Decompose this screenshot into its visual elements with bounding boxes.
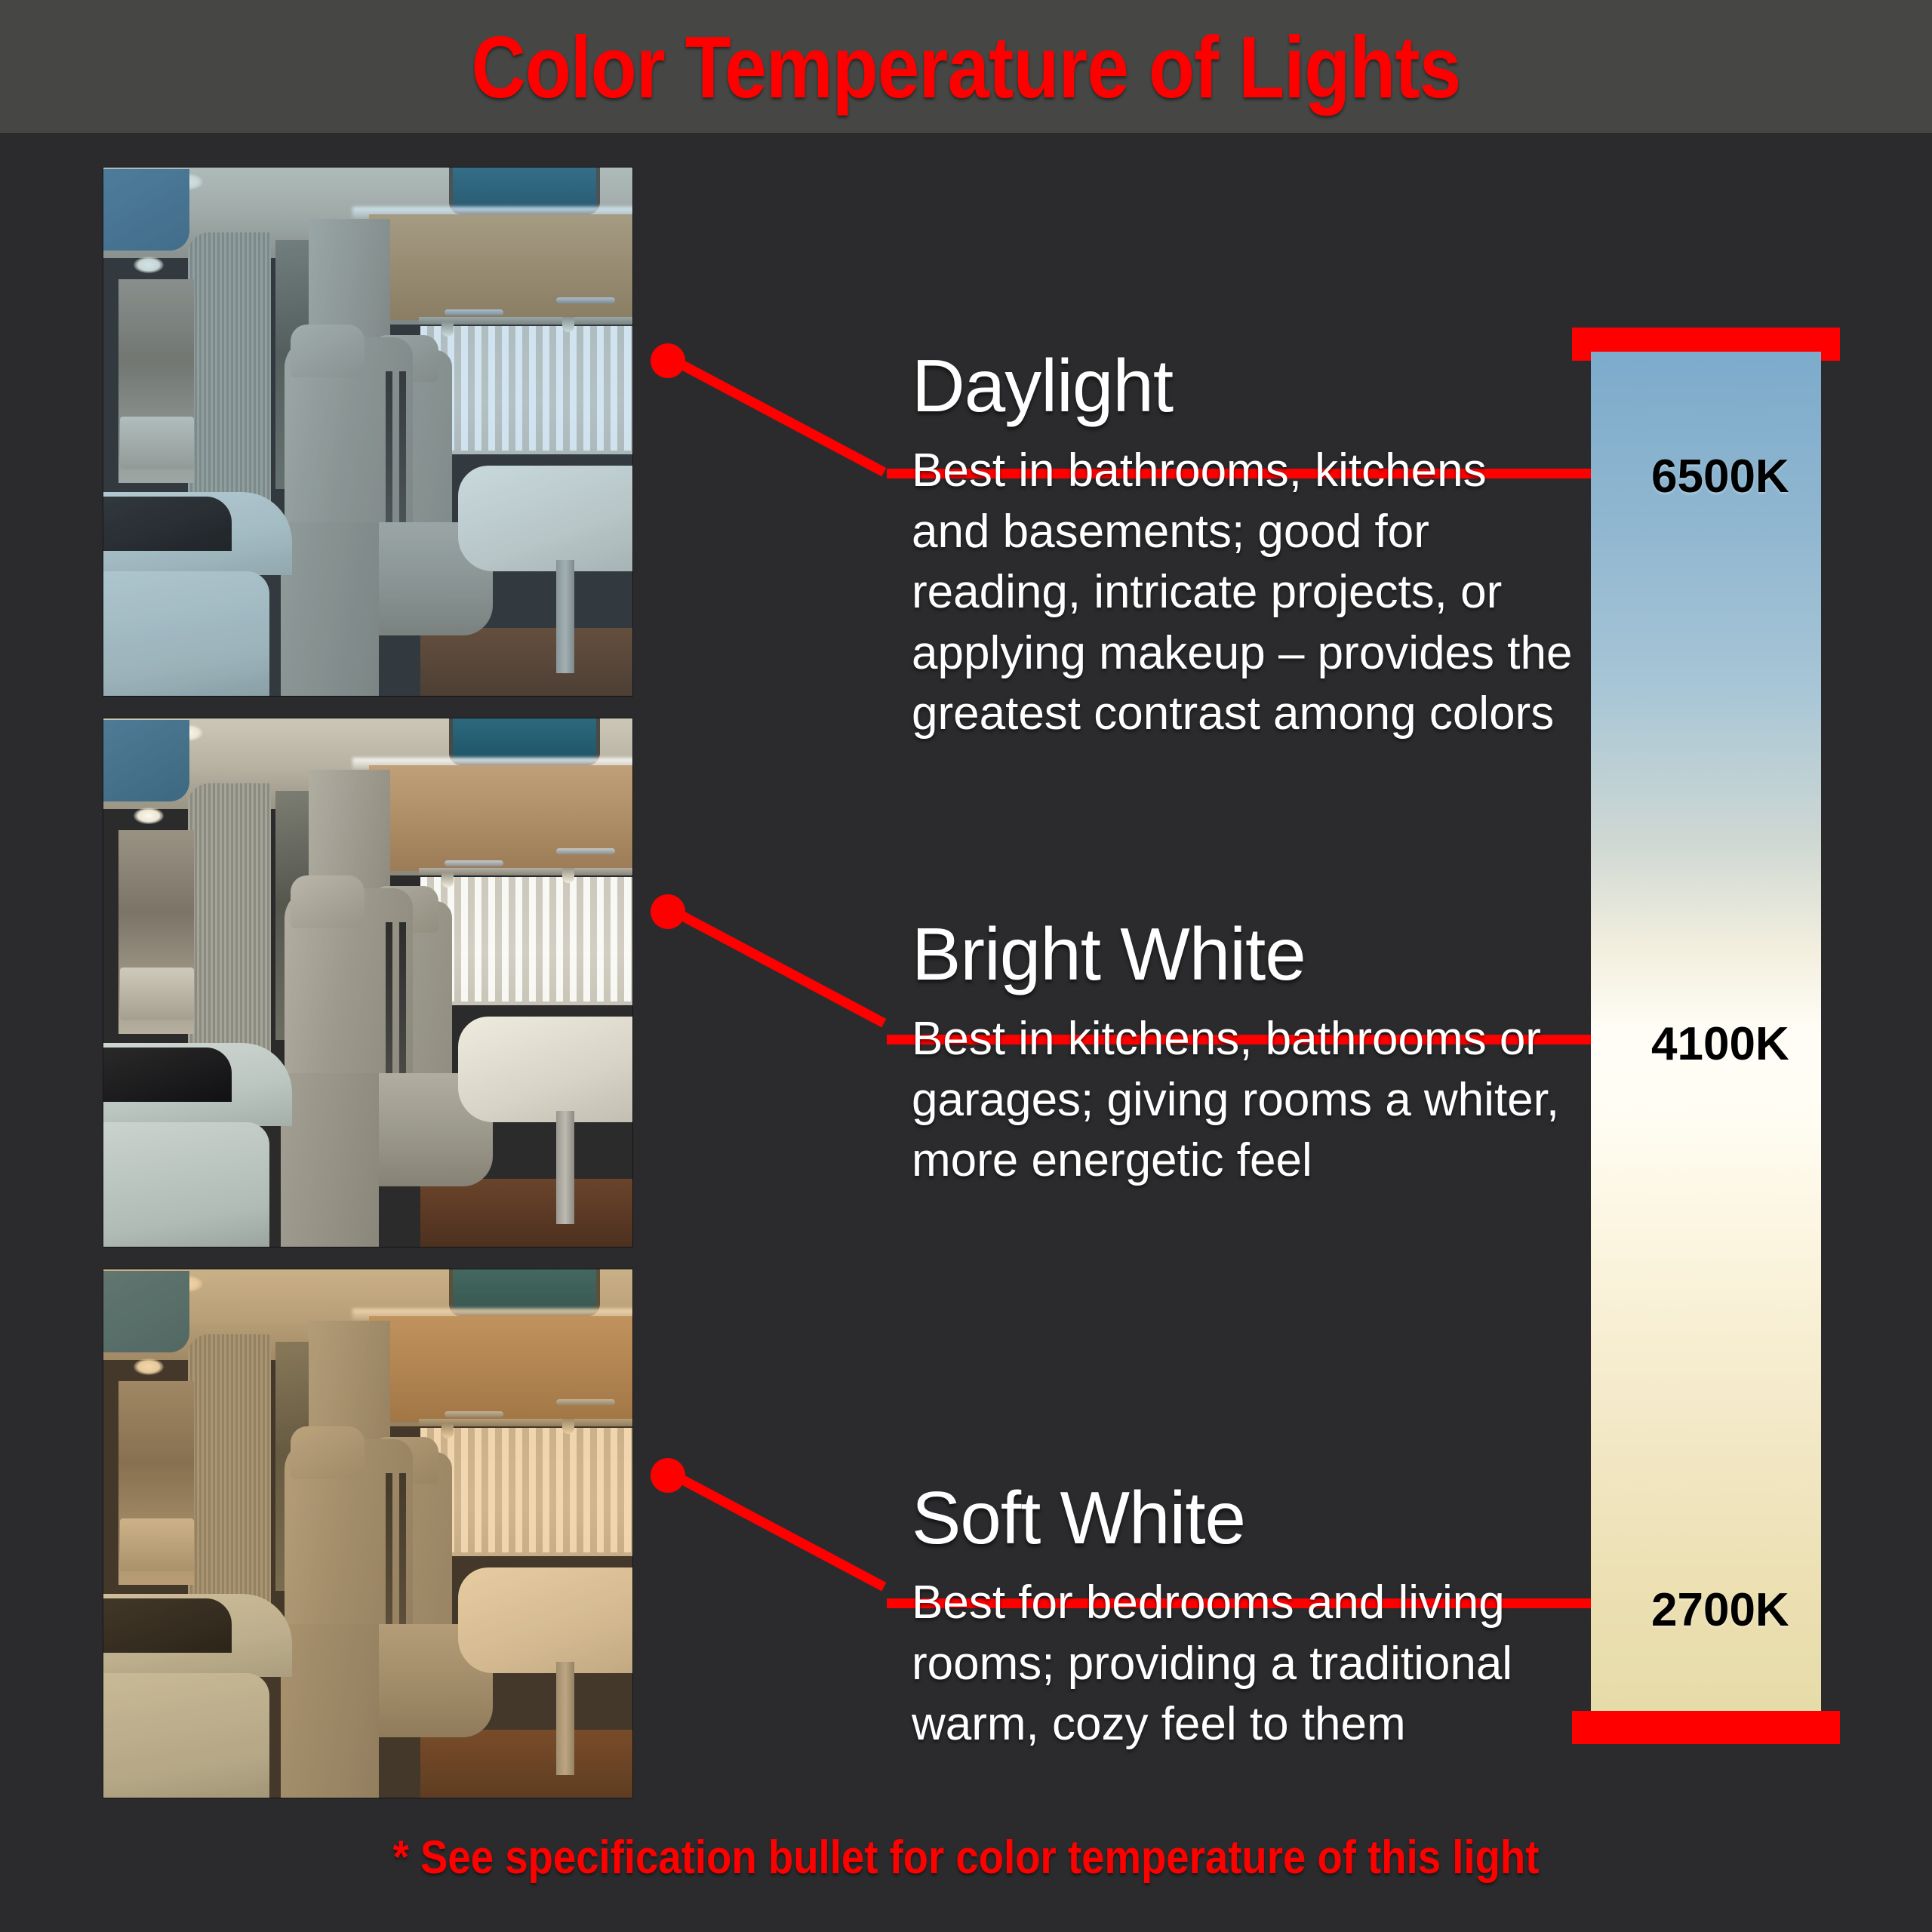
photo-daylight bbox=[103, 168, 632, 696]
connector-diagonal-soft bbox=[678, 1475, 886, 1592]
section-soft-white: Soft White Best for bedrooms and living … bbox=[912, 1481, 1576, 1755]
connector-diagonal-daylight bbox=[678, 360, 886, 477]
connector-diagonal-bright bbox=[678, 911, 886, 1028]
photo-soft-white bbox=[103, 1269, 632, 1798]
connector-dot-daylight bbox=[651, 343, 685, 378]
photo-bright-white bbox=[103, 718, 632, 1247]
section-body-daylight: Best in bathrooms, kitchens and basement… bbox=[912, 441, 1576, 745]
section-heading-bright-white: Bright White bbox=[912, 917, 1576, 992]
scale-label-6500k: 6500K bbox=[1651, 450, 1789, 503]
rv-interior-illustration bbox=[103, 718, 632, 1247]
scale-label-4100k: 4100K bbox=[1651, 1017, 1789, 1071]
footer-note: * See specification bullet for color tem… bbox=[116, 1831, 1817, 1884]
section-daylight: Daylight Best in bathrooms, kitchens and… bbox=[912, 349, 1576, 745]
connector-dot-bright bbox=[651, 894, 685, 929]
scale-label-2700k: 2700K bbox=[1651, 1583, 1789, 1637]
page-title: Color Temperature of Lights bbox=[135, 17, 1797, 118]
scale-cap-bottom bbox=[1572, 1711, 1840, 1744]
section-heading-daylight: Daylight bbox=[912, 349, 1576, 424]
connector-dot-soft bbox=[651, 1458, 685, 1493]
section-bright-white: Bright White Best in kitchens, bathrooms… bbox=[912, 917, 1576, 1192]
section-heading-soft-white: Soft White bbox=[912, 1481, 1576, 1556]
section-body-soft-white: Best for bedrooms and living rooms; prov… bbox=[912, 1573, 1576, 1755]
section-body-bright-white: Best in kitchens, bathrooms or garages; … bbox=[912, 1009, 1576, 1192]
